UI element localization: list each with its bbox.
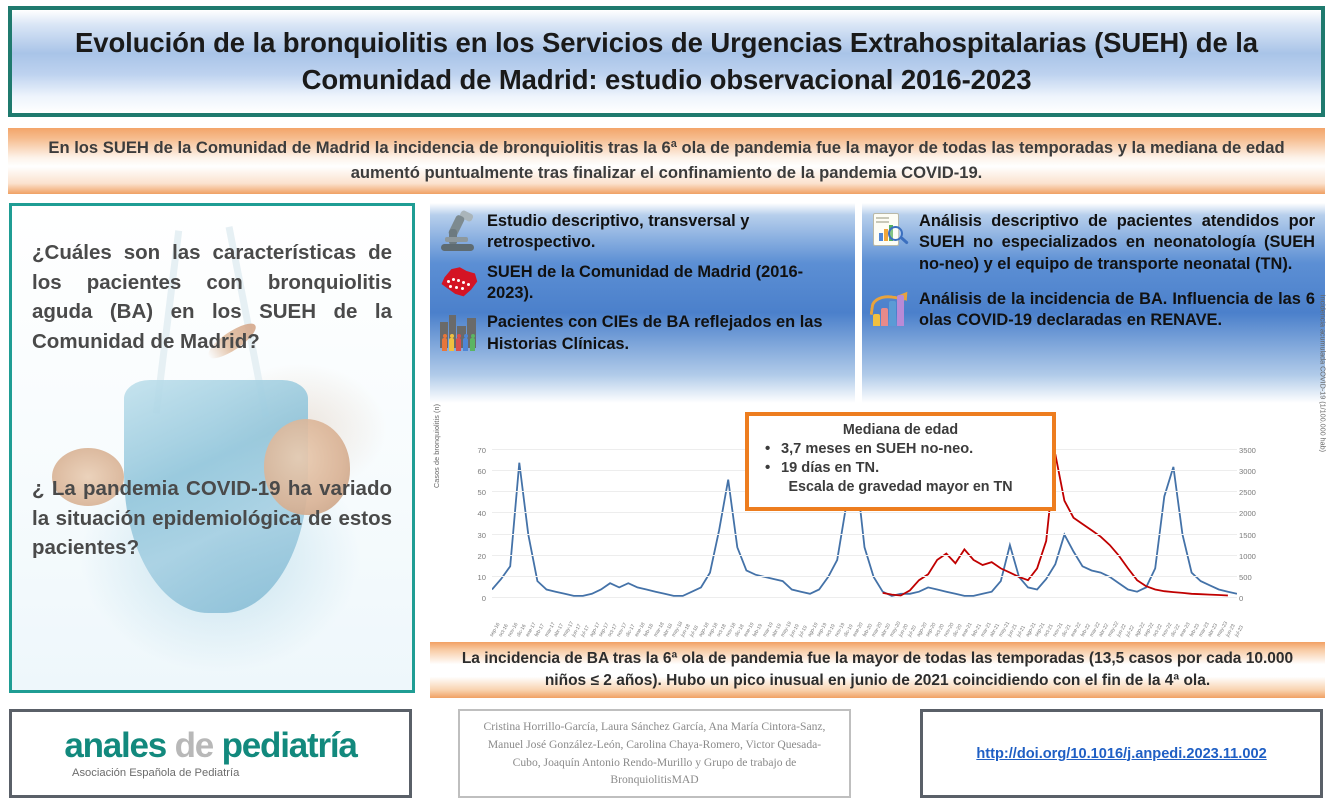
chart-y-tick: 30 — [430, 531, 486, 540]
method-label: SUEH de la Comunidad de Madrid (2016-202… — [487, 262, 845, 305]
method-item-descriptive-analysis: Análisis descriptivo de pacientes atendi… — [870, 211, 1315, 275]
authors-list: Cristina Horrillo-García, Laura Sánchez … — [460, 718, 849, 790]
authors-box: Cristina Horrillo-García, Laura Sánchez … — [458, 709, 851, 798]
logo-subtitle: Asociación Española de Pediatría — [72, 767, 239, 779]
method-label: Análisis de la incidencia de BA. Influen… — [919, 289, 1315, 332]
logo-word-de: de — [175, 726, 213, 765]
chart-y2-tick: 3500 — [1239, 446, 1256, 455]
key-message-text: En los SUEH de la Comunidad de Madrid la… — [8, 136, 1325, 186]
chart-y2-tick: 2500 — [1239, 488, 1256, 497]
doi-link[interactable]: http://doi.org/10.1016/j.anpedi.2023.11.… — [976, 746, 1266, 762]
page-title: Evolución de la bronquiolitis en los Ser… — [12, 25, 1321, 98]
microscope-icon — [438, 211, 480, 253]
callout-title: Mediana de edad — [759, 422, 1042, 438]
chart-y2-tick: 500 — [1239, 573, 1252, 582]
method-item-study-design: Estudio descriptivo, transversal y retro… — [438, 211, 845, 254]
chart-y2-axis-label: Incidencia acumulada COVID-19 (1/100.000… — [1318, 295, 1327, 452]
doi-box: http://doi.org/10.1016/j.anpedi.2023.11.… — [920, 709, 1323, 798]
chart-gridline — [492, 512, 1237, 513]
method-label: Pacientes con CIEs de BA reflejados en l… — [487, 312, 845, 355]
chart-y2-tick: 0 — [1239, 594, 1243, 603]
population-icon — [438, 312, 480, 354]
callout-item: 19 días en TN. — [759, 460, 1042, 476]
research-question-1: ¿Cuáles son las características de los p… — [12, 238, 412, 356]
callout-footer: Escala de gravedad mayor en TN — [759, 479, 1042, 495]
report-analysis-icon — [870, 211, 912, 253]
chart-y-tick: 70 — [430, 446, 486, 455]
journal-logo-box: anales de pediatría Asociación Española … — [9, 709, 412, 798]
chart-x-axis-ticks: sep-16oct-16nov-16dic-16ene-17feb-17mar-… — [492, 598, 1237, 638]
bar-chart-trend-icon — [870, 289, 912, 331]
method-label: Estudio descriptivo, transversal y retro… — [487, 211, 845, 254]
logo-word-anales: anales — [64, 726, 166, 765]
chart-y-tick: 20 — [430, 552, 486, 561]
callout-item: 3,7 meses en SUEH no-neo. — [759, 441, 1042, 457]
methods-panel-left: Estudio descriptivo, transversal y retro… — [430, 203, 855, 403]
methods-panel-right: Análisis descriptivo de pacientes atendi… — [862, 203, 1325, 403]
journal-logo: anales de pediatría — [64, 728, 356, 763]
madrid-map-icon — [438, 262, 480, 304]
method-label: Análisis descriptivo de pacientes atendi… — [919, 211, 1315, 275]
chart-y2-tick: 1500 — [1239, 531, 1256, 540]
logo-word-pediatria: pediatría — [222, 726, 357, 765]
key-message-banner: En los SUEH de la Comunidad de Madrid la… — [8, 128, 1325, 194]
chart-gridline — [492, 576, 1237, 577]
chart-y-tick: 60 — [430, 467, 486, 476]
method-item-population: Pacientes con CIEs de BA reflejados en l… — [438, 312, 845, 355]
chart-y-tick: 10 — [430, 573, 486, 582]
poster-title-banner: Evolución de la bronquiolitis en los Ser… — [8, 6, 1325, 117]
median-age-callout: Mediana de edad 3,7 meses en SUEH no-neo… — [745, 412, 1056, 511]
research-questions-panel: ¿Cuáles son las características de los p… — [9, 203, 415, 693]
chart-y2-tick: 1000 — [1239, 552, 1256, 561]
method-item-setting: SUEH de la Comunidad de Madrid (2016-202… — [438, 262, 845, 305]
chart-y2-tick: 2000 — [1239, 509, 1256, 518]
chart-y-tick: 50 — [430, 488, 486, 497]
chart-gridline — [492, 555, 1237, 556]
conclusion-text: La incidencia de BA tras la 6ª ola de pa… — [430, 648, 1325, 693]
research-question-2: ¿ La pandemia COVID-19 ha variado la sit… — [12, 474, 412, 563]
chart-y2-tick: 3000 — [1239, 467, 1256, 476]
chart-gridline — [492, 534, 1237, 535]
method-item-incidence-analysis: Análisis de la incidencia de BA. Influen… — [870, 289, 1315, 332]
conclusion-banner: La incidencia de BA tras la 6ª ola de pa… — [430, 642, 1325, 698]
chart-y-tick: 40 — [430, 509, 486, 518]
chart-y-tick: 0 — [430, 594, 486, 603]
